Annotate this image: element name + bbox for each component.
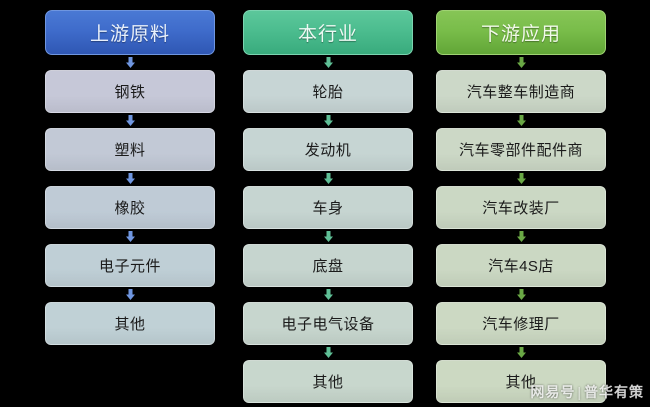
column-header-label: 下游应用 bbox=[481, 19, 561, 46]
chain-column-upstream: 上游原料 钢铁塑料橡胶电子元件其他 bbox=[45, 0, 215, 407]
chain-node-label: 电子电气设备 bbox=[281, 313, 374, 334]
chain-node[interactable]: 汽车修理厂 bbox=[436, 302, 606, 345]
chain-node-label: 汽车修理厂 bbox=[482, 313, 560, 334]
chain-node[interactable]: 汽车4S店 bbox=[436, 244, 606, 287]
flow-arrow-downstream-2 bbox=[517, 173, 526, 184]
flow-arrow-upstream-0 bbox=[126, 57, 135, 68]
column-header-label: 本行业 bbox=[298, 19, 358, 46]
watermark-source: 网易号 bbox=[530, 384, 575, 400]
flow-arrow-downstream-4 bbox=[517, 289, 526, 300]
chain-node-label: 汽车零部件配件商 bbox=[459, 139, 583, 160]
flow-arrow-downstream-1 bbox=[517, 115, 526, 126]
chain-node[interactable]: 轮胎 bbox=[243, 70, 413, 113]
chain-node-label: 轮胎 bbox=[312, 81, 343, 102]
chain-node[interactable]: 其他 bbox=[45, 302, 215, 345]
chain-node-label: 橡胶 bbox=[114, 197, 145, 218]
flow-arrow-upstream-4 bbox=[126, 289, 135, 300]
chain-node[interactable]: 其他 bbox=[243, 360, 413, 403]
flow-arrow-downstream-0 bbox=[517, 57, 526, 68]
flow-arrow-upstream-1 bbox=[126, 115, 135, 126]
flow-arrow-industry-1 bbox=[324, 115, 333, 126]
watermark: 网易号|普华有策 bbox=[530, 382, 644, 402]
column-header-industry[interactable]: 本行业 bbox=[243, 10, 413, 55]
chain-node[interactable]: 发动机 bbox=[243, 128, 413, 171]
chain-node-label: 底盘 bbox=[312, 255, 343, 276]
chain-node-label: 其他 bbox=[114, 313, 145, 334]
chain-node[interactable]: 汽车零部件配件商 bbox=[436, 128, 606, 171]
watermark-brand: 普华有策 bbox=[584, 384, 644, 400]
chain-node-label: 发动机 bbox=[305, 139, 352, 160]
flow-arrow-industry-0 bbox=[324, 57, 333, 68]
chain-node-label: 汽车整车制造商 bbox=[467, 81, 576, 102]
flow-arrow-industry-3 bbox=[324, 231, 333, 242]
chain-node-label: 钢铁 bbox=[114, 81, 145, 102]
chain-node[interactable]: 电子元件 bbox=[45, 244, 215, 287]
chain-node-label: 汽车改装厂 bbox=[482, 197, 560, 218]
flow-arrow-downstream-3 bbox=[517, 231, 526, 242]
chain-node[interactable]: 钢铁 bbox=[45, 70, 215, 113]
chain-node[interactable]: 汽车改装厂 bbox=[436, 186, 606, 229]
chain-node[interactable]: 塑料 bbox=[45, 128, 215, 171]
chain-node[interactable]: 汽车整车制造商 bbox=[436, 70, 606, 113]
column-header-downstream[interactable]: 下游应用 bbox=[436, 10, 606, 55]
flow-arrow-industry-2 bbox=[324, 173, 333, 184]
chain-node[interactable]: 底盘 bbox=[243, 244, 413, 287]
chain-node-label: 汽车4S店 bbox=[488, 255, 554, 276]
flow-arrow-upstream-2 bbox=[126, 173, 135, 184]
flow-arrow-industry-4 bbox=[324, 289, 333, 300]
chain-column-downstream: 下游应用 汽车整车制造商汽车零部件配件商汽车改装厂汽车4S店汽车修理厂其他 bbox=[436, 0, 606, 407]
chain-node-label: 电子元件 bbox=[99, 255, 161, 276]
chain-column-industry: 本行业 轮胎发动机车身底盘电子电气设备其他 bbox=[243, 0, 413, 407]
flow-arrow-upstream-3 bbox=[126, 231, 135, 242]
flow-arrow-downstream-5 bbox=[517, 347, 526, 358]
chain-node[interactable]: 电子电气设备 bbox=[243, 302, 413, 345]
chain-node[interactable]: 车身 bbox=[243, 186, 413, 229]
chain-node-label: 车身 bbox=[312, 197, 343, 218]
industry-chain-diagram: 上游原料 钢铁塑料橡胶电子元件其他 本行业 轮胎发动机车身底盘电子电气设备其他 … bbox=[0, 0, 650, 407]
chain-node-label: 其他 bbox=[312, 371, 343, 392]
watermark-separator: | bbox=[575, 384, 584, 400]
chain-node-label: 塑料 bbox=[114, 139, 145, 160]
column-header-upstream[interactable]: 上游原料 bbox=[45, 10, 215, 55]
chain-node[interactable]: 橡胶 bbox=[45, 186, 215, 229]
column-header-label: 上游原料 bbox=[90, 19, 170, 46]
flow-arrow-industry-5 bbox=[324, 347, 333, 358]
